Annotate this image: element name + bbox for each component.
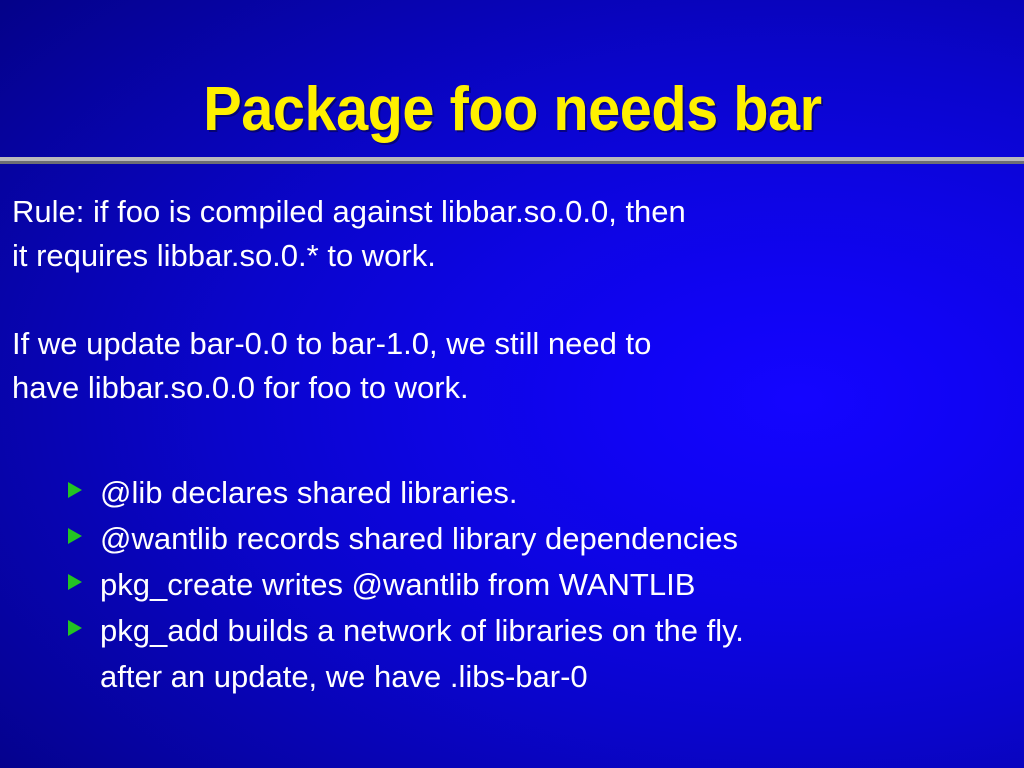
triangle-right-icon bbox=[68, 528, 82, 544]
triangle-right-icon bbox=[68, 482, 82, 498]
body-paragraph-line: Rule: if foo is compiled against libbar.… bbox=[12, 190, 1012, 234]
slide-title-area: Package foo needs bar bbox=[0, 68, 1024, 152]
list-item-label: pkg_add builds a network of libraries on… bbox=[100, 608, 744, 654]
triangle-right-icon bbox=[68, 574, 82, 590]
presentation-slide: Package foo needs bar Rule: if foo is co… bbox=[0, 0, 1024, 768]
page-title: Package foo needs bar bbox=[203, 79, 821, 141]
list-item: @lib declares shared libraries. bbox=[68, 470, 1008, 516]
title-separator-shadow bbox=[0, 161, 1024, 164]
body-paragraph-line: it requires libbar.so.0.* to work. bbox=[12, 234, 1012, 278]
body-paragraph-line: If we update bar-0.0 to bar-1.0, we stil… bbox=[12, 322, 1012, 366]
list-item-label: pkg_create writes @wantlib from WANTLIB bbox=[100, 562, 695, 608]
list-item: pkg_create writes @wantlib from WANTLIB bbox=[68, 562, 1008, 608]
paragraph-spacer bbox=[12, 278, 1012, 322]
list-item-label: @wantlib records shared library dependen… bbox=[100, 516, 738, 562]
list-item-continuation: after an update, we have .libs-bar-0 bbox=[68, 654, 1008, 700]
list-item: @wantlib records shared library dependen… bbox=[68, 516, 1008, 562]
bullet-list: @lib declares shared libraries. @wantlib… bbox=[68, 470, 1008, 700]
triangle-right-icon bbox=[68, 620, 82, 636]
body-paragraph-line: have libbar.so.0.0 for foo to work. bbox=[12, 366, 1012, 410]
list-item: pkg_add builds a network of libraries on… bbox=[68, 608, 1008, 654]
list-item-label: @lib declares shared libraries. bbox=[100, 470, 517, 516]
slide-body: Rule: if foo is compiled against libbar.… bbox=[12, 190, 1012, 410]
